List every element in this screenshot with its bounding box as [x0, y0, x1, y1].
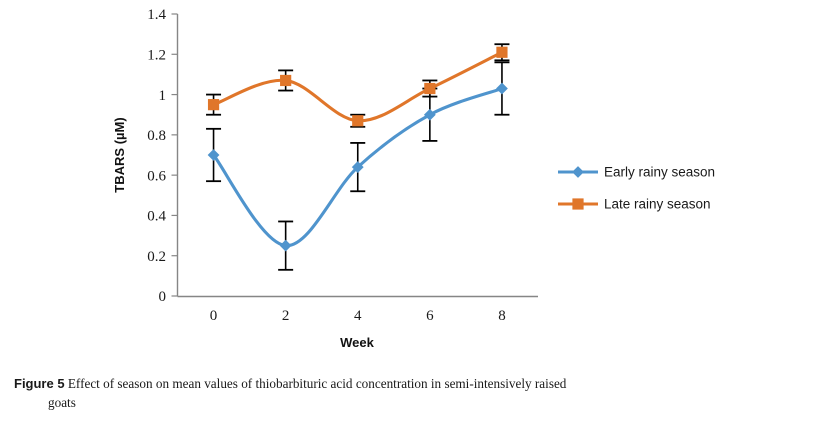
data-point-marker: [280, 75, 291, 86]
figure-caption-label: Figure 5: [14, 376, 65, 391]
legend-item-late-rainy-season[interactable]: Late rainy season: [558, 197, 711, 212]
x-axis-tick-label: 0: [210, 308, 218, 324]
figure-caption-text-line2: goats: [14, 393, 826, 412]
data-point-marker: [280, 240, 292, 252]
x-axis-tick-label: 4: [354, 308, 362, 324]
error-bars-layer: [206, 44, 509, 270]
x-axis-tick-labels: 02468: [210, 308, 506, 324]
y-axis-tick-label: 1.2: [147, 47, 166, 63]
x-axis-tick-label: 2: [282, 308, 290, 324]
x-axis-tick-label: 6: [426, 308, 434, 324]
figure-caption: Figure 5 Effect of season on mean values…: [14, 374, 826, 412]
y-axis-tick-label: 1.4: [147, 7, 166, 23]
legend-marker-swatch: [572, 166, 584, 178]
legend-item-label: Late rainy season: [604, 197, 711, 212]
data-point-marker: [352, 115, 363, 126]
x-axis-title: Week: [340, 335, 374, 350]
data-point-marker: [496, 47, 507, 58]
y-axis-tick-label: 0.8: [147, 128, 166, 144]
chart-legend: Early rainy seasonLate rainy season: [558, 165, 715, 212]
data-point-marker: [208, 99, 219, 110]
y-axis-tick-labels: 00.20.40.60.811.21.4: [147, 7, 166, 305]
chart-plot-area: 00.20.40.60.811.21.4 02468 Week TBARS (µ…: [0, 0, 836, 360]
y-axis-tick-label: 1: [159, 88, 167, 104]
x-axis-tick-label: 8: [498, 308, 506, 324]
y-axis-tick-label: 0: [159, 289, 167, 305]
y-axis-title: TBARS (µM): [112, 117, 127, 192]
line-chart-svg: 00.20.40.60.811.21.4 02468 Week TBARS (µ…: [0, 0, 836, 360]
legend-item-early-rainy-season[interactable]: Early rainy season: [558, 165, 715, 180]
legend-item-label: Early rainy season: [604, 165, 715, 180]
y-axis-tick-label: 0.2: [147, 249, 166, 265]
legend-marker-swatch: [572, 198, 583, 209]
data-point-marker: [424, 109, 436, 121]
y-axis-tick-label: 0.4: [147, 209, 166, 225]
series-line-late-rainy-season: [214, 52, 502, 121]
figure-container: 00.20.40.60.811.21.4 02468 Week TBARS (µ…: [0, 0, 836, 437]
data-point-marker: [424, 83, 435, 94]
y-axis-ticks: [172, 14, 178, 296]
y-axis-tick-label: 0.6: [147, 168, 166, 184]
figure-caption-text: Effect of season on mean values of thiob…: [68, 376, 567, 391]
data-point-marker: [496, 83, 508, 95]
